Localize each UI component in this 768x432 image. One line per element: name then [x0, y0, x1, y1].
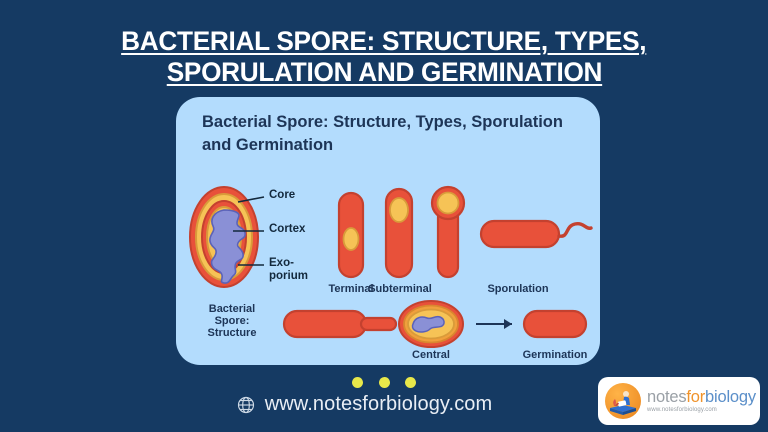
spore-cross-section-icon	[190, 187, 258, 287]
globe-icon	[236, 395, 256, 415]
callout-exosporium-line2: porium	[269, 270, 308, 284]
rod-with-stub-icon	[284, 311, 396, 337]
site-url[interactable]: www.notesforbiology.com	[265, 393, 493, 416]
label-bss-line3: Structure	[190, 327, 274, 339]
dot-3	[405, 377, 416, 388]
logo-word-for: for	[686, 388, 705, 406]
germination-rod-icon	[524, 311, 586, 337]
decorative-dots	[352, 377, 416, 388]
page-title-line-2: SPORULATION AND GERMINATION	[166, 57, 601, 88]
book-reader-badge-icon	[605, 383, 641, 419]
subterminal-rod-icon	[386, 189, 412, 277]
bulging-spore-rod-icon	[432, 187, 464, 277]
dot-2	[379, 377, 390, 388]
logo-subtext: www.notesforbiology.com	[647, 407, 756, 413]
dot-1	[352, 377, 363, 388]
page-title: BACTERIAL SPORE: STRUCTURE, TYPES, SPORU…	[0, 26, 768, 88]
sporulation-bacterium-icon	[481, 221, 591, 247]
callout-exosporium-line1: Exo-	[269, 257, 294, 271]
page-title-line-1: BACTERIAL SPORE: STRUCTURE, TYPES,	[121, 26, 646, 57]
label-bacterial-spore-structure: Bacterial Spore: Structure	[190, 303, 274, 339]
label-subterminal: Subterminal	[368, 283, 432, 295]
label-central: Central	[412, 349, 450, 361]
logo-text: notesforbiology www.notesforbiology.com	[647, 389, 756, 414]
label-sporulation: Sporulation	[487, 283, 548, 295]
label-bss-line1: Bacterial	[190, 303, 274, 315]
central-spore-icon	[399, 301, 463, 347]
logo-word-notes: notes	[647, 388, 686, 406]
logo-wordmark: notesforbiology	[647, 389, 756, 406]
label-terminal: Terminal	[328, 283, 373, 295]
arrow-right-icon	[476, 319, 512, 329]
notesforbiology-logo[interactable]: notesforbiology www.notesforbiology.com	[598, 377, 760, 425]
logo-word-biology: biology	[705, 388, 756, 406]
label-germination: Germination	[523, 349, 588, 361]
terminal-rod-icon	[339, 193, 363, 277]
callout-cortex: Cortex	[269, 223, 305, 237]
infographic-card: Bacterial Spore: Structure, Types, Sporu…	[176, 97, 600, 365]
callout-core: Core	[269, 189, 295, 203]
label-bss-line2: Spore:	[190, 315, 274, 327]
